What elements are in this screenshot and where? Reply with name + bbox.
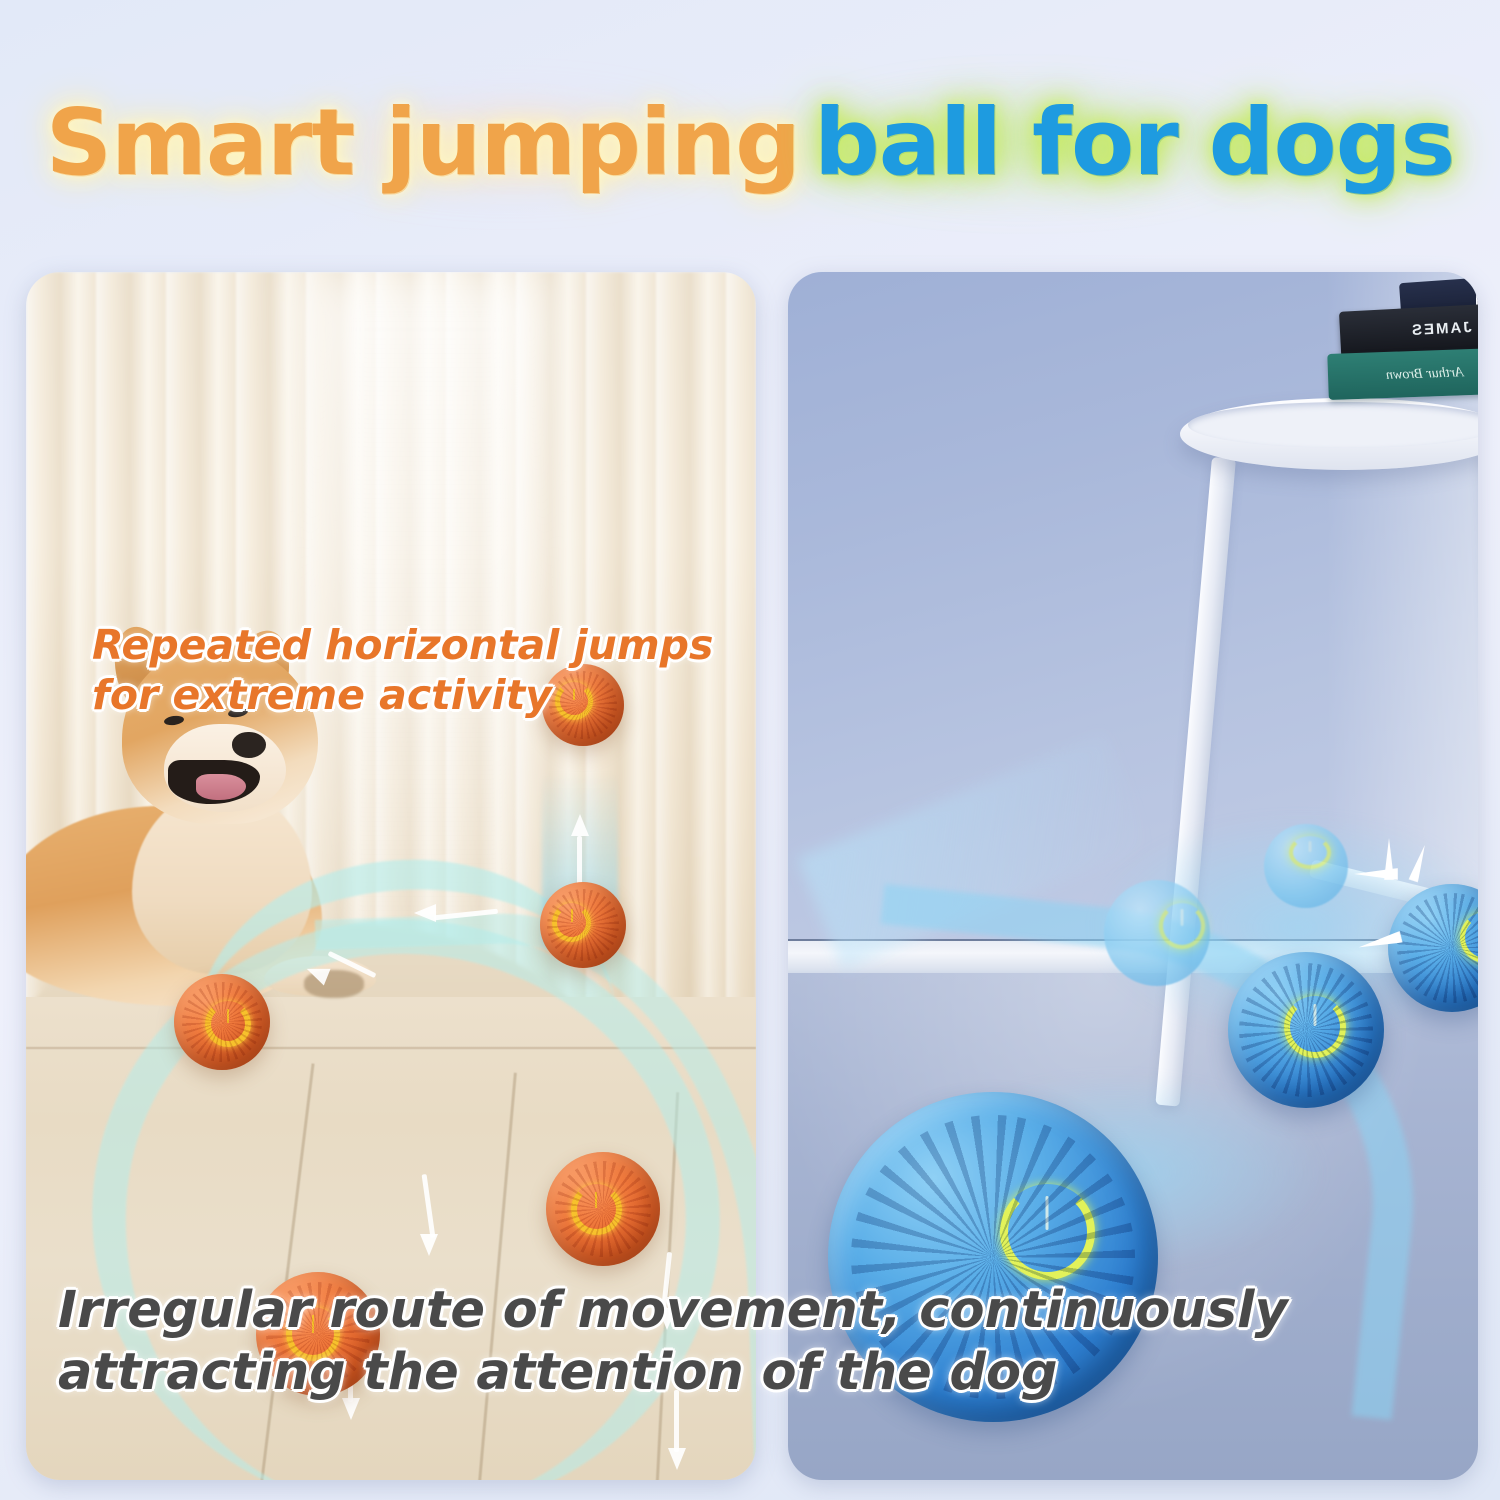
page-title: Smart jumping ball for dogs: [0, 78, 1500, 208]
orange-ball-left: [174, 974, 270, 1070]
blue-ball-ghost-left: [1104, 880, 1210, 986]
dog-paw-toes: [304, 970, 364, 998]
orange-ball-center: [546, 1152, 660, 1266]
power-button-icon: [1000, 1184, 1095, 1279]
caption-left-panel: Repeated horizontal jumps for extreme ac…: [92, 620, 713, 720]
blue-ball-ghost-top: [1264, 824, 1348, 908]
power-button-icon: [1460, 912, 1478, 963]
orange-ball-ground: [540, 882, 626, 968]
dog-nose: [232, 732, 266, 758]
power-button-icon: [205, 1001, 252, 1048]
power-button-icon: [552, 903, 591, 942]
power-button-icon: [1289, 836, 1331, 869]
book-green: Arthur Brown: [1327, 346, 1478, 400]
caption-bottom: Irregular route of movement, continuousl…: [58, 1280, 1458, 1404]
floor-seam: [26, 1047, 756, 1049]
blue-ball-under-table: [1228, 952, 1384, 1108]
power-button-icon: [1159, 903, 1205, 949]
title-part-orange: Smart jumping: [46, 97, 800, 189]
power-button-icon: [1284, 996, 1346, 1058]
book-title-james: JAMES: [1410, 319, 1472, 339]
book-title-arthur-brown: Arthur Brown: [1386, 365, 1464, 384]
power-button-icon: [571, 1184, 622, 1235]
title-part-blue: ball for dogs: [814, 97, 1454, 189]
